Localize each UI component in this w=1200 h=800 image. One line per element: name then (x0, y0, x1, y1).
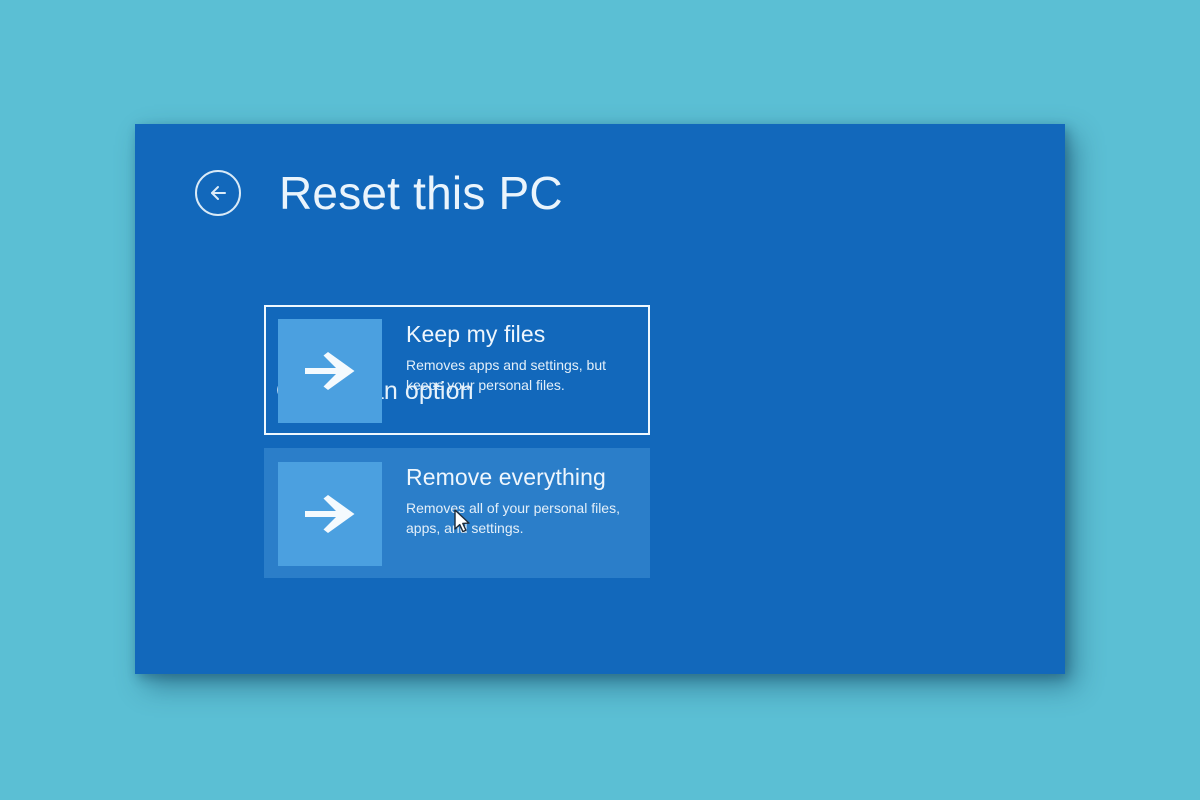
option-keep-my-files[interactable]: Keep my files Removes apps and settings,… (264, 305, 650, 435)
option-text-block: Remove everything Removes all of your pe… (382, 462, 636, 539)
arrow-right-icon (278, 319, 382, 423)
desktop-background: Reset this PC Choose an option Keep my f… (0, 0, 1200, 800)
option-remove-everything[interactable]: Remove everything Removes all of your pe… (264, 448, 650, 578)
page-title: Reset this PC (279, 170, 563, 216)
back-arrow-glyph (206, 181, 230, 205)
reset-this-pc-panel: Reset this PC Choose an option Keep my f… (135, 124, 1065, 674)
arrow-right-glyph (303, 351, 357, 391)
option-heading: Keep my files (406, 321, 636, 348)
option-description: Removes apps and settings, but keeps you… (406, 355, 636, 396)
option-description: Removes all of your personal files, apps… (406, 498, 636, 539)
option-list: Keep my files Removes apps and settings,… (264, 305, 650, 578)
option-heading: Remove everything (406, 464, 636, 491)
panel-header: Reset this PC (195, 170, 563, 216)
arrow-right-glyph (303, 494, 357, 534)
arrow-right-icon (278, 462, 382, 566)
back-arrow-circle-icon[interactable] (195, 170, 241, 216)
option-text-block: Keep my files Removes apps and settings,… (382, 319, 636, 396)
